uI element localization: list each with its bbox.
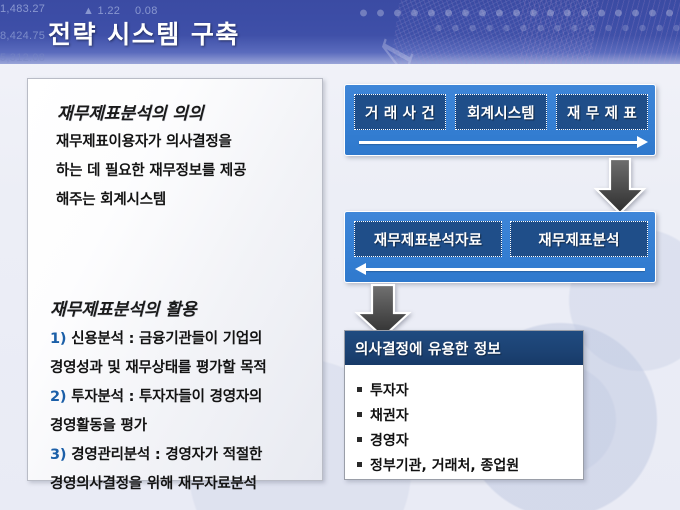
flow-arrow-left-head-icon [355, 263, 366, 275]
usage-item-3-number: 3) [50, 447, 66, 463]
useful-information-title: 의사결정에 유용한 정보 [345, 331, 583, 365]
usage-item-2-line-2: 경영활동을 평가 [50, 414, 147, 435]
header-dot-grid-icon [355, 5, 675, 21]
header-ticker-value-2: 8,424.75 [0, 30, 45, 42]
flow-panel-row-2: 재무제표분석자료 재무제표분석 [344, 211, 656, 283]
page-title: 전략 시스템 구축 [48, 15, 240, 51]
down-arrow-connector-1-icon [592, 157, 648, 215]
header-dot-grid-secondary-icon [430, 20, 680, 36]
usage-item-2-text: 투자분석 : 투자자들이 경영자의 [71, 389, 262, 405]
left-content-panel: 재무제표분석의 의의 재무제표이용자가 의사결정을 하는 데 필요한 재무정보를… [27, 78, 323, 481]
usage-item-1-number: 1) [50, 331, 66, 347]
list-item-label: 투자자 [370, 380, 409, 400]
list-item: 채권자 [357, 402, 583, 427]
bullet-icon [357, 387, 362, 392]
section-heading-meaning: 재무제표분석의 의의 [57, 99, 204, 124]
list-item-label: 경영자 [370, 430, 409, 450]
usage-item-3-text: 경영관리분석 : 경영자가 적절한 [71, 447, 262, 463]
flow-box-financial-statements: 재 무 제 표 [556, 94, 648, 130]
usage-item-3-line-2: 경영의사결정을 위해 재무자료분석 [50, 472, 257, 493]
flow-box-statement-analysis: 재무제표분석 [510, 221, 648, 257]
usage-item-1-line-2: 경영성과 및 재무상태를 평가할 목적 [50, 356, 267, 377]
slide-header-banner: M 1,483.27 ▲ 1.22 0.08 8,424.75 5,312.08… [0, 0, 680, 64]
list-item: 경영자 [357, 427, 583, 452]
flow-box-analysis-data: 재무제표분석자료 [354, 221, 502, 257]
flow-arrow-left-shaft-icon [365, 268, 645, 271]
flow-box-transaction-event: 거 래 사 건 [354, 94, 446, 130]
bullet-icon [357, 437, 362, 442]
slide-canvas: M 1,483.27 ▲ 1.22 0.08 8,424.75 5,312.08… [0, 0, 680, 510]
meaning-line-2: 하는 데 필요한 재무정보를 제공 [56, 159, 246, 180]
meaning-line-3: 해주는 회계시스템 [56, 188, 166, 209]
header-ticker-value-1: 1,483.27 [0, 3, 45, 15]
list-item: 정부기관, 거래처, 종업원 [357, 452, 583, 477]
useful-information-list: 투자자 채권자 경영자 정부기관, 거래처, 종업원 [345, 365, 583, 477]
list-item: 투자자 [357, 377, 583, 402]
usage-item-3-line-1: 3) 경영관리분석 : 경영자가 적절한 [50, 443, 262, 464]
section-heading-usage: 재무제표분석의 활용 [50, 295, 197, 320]
flow-box-accounting-system: 회계시스템 [455, 94, 547, 130]
flow-arrow-right-head-icon [637, 136, 648, 148]
usage-item-1-text: 신용분석 : 금융기관들이 기업의 [71, 331, 262, 347]
bullet-icon [357, 412, 362, 417]
usage-item-2-line-1: 2) 투자분석 : 투자자들이 경영자의 [50, 385, 262, 406]
useful-information-box: 의사결정에 유용한 정보 투자자 채권자 경영자 정부기관, 거래처, 종업원 [344, 330, 584, 480]
flow-arrow-right-shaft-icon [359, 141, 639, 144]
flow-panel-row-1: 거 래 사 건 회계시스템 재 무 제 표 [344, 84, 656, 156]
list-item-label: 정부기관, 거래처, 종업원 [370, 455, 519, 475]
bullet-icon [357, 462, 362, 467]
header-ticker-value-3: 5,312.08 [0, 52, 45, 64]
usage-item-2-number: 2) [50, 389, 66, 405]
usage-item-1-line-1: 1) 신용분석 : 금융기관들이 기업의 [50, 327, 262, 348]
list-item-label: 채권자 [370, 405, 409, 425]
meaning-line-1: 재무제표이용자가 의사결정을 [56, 130, 232, 151]
